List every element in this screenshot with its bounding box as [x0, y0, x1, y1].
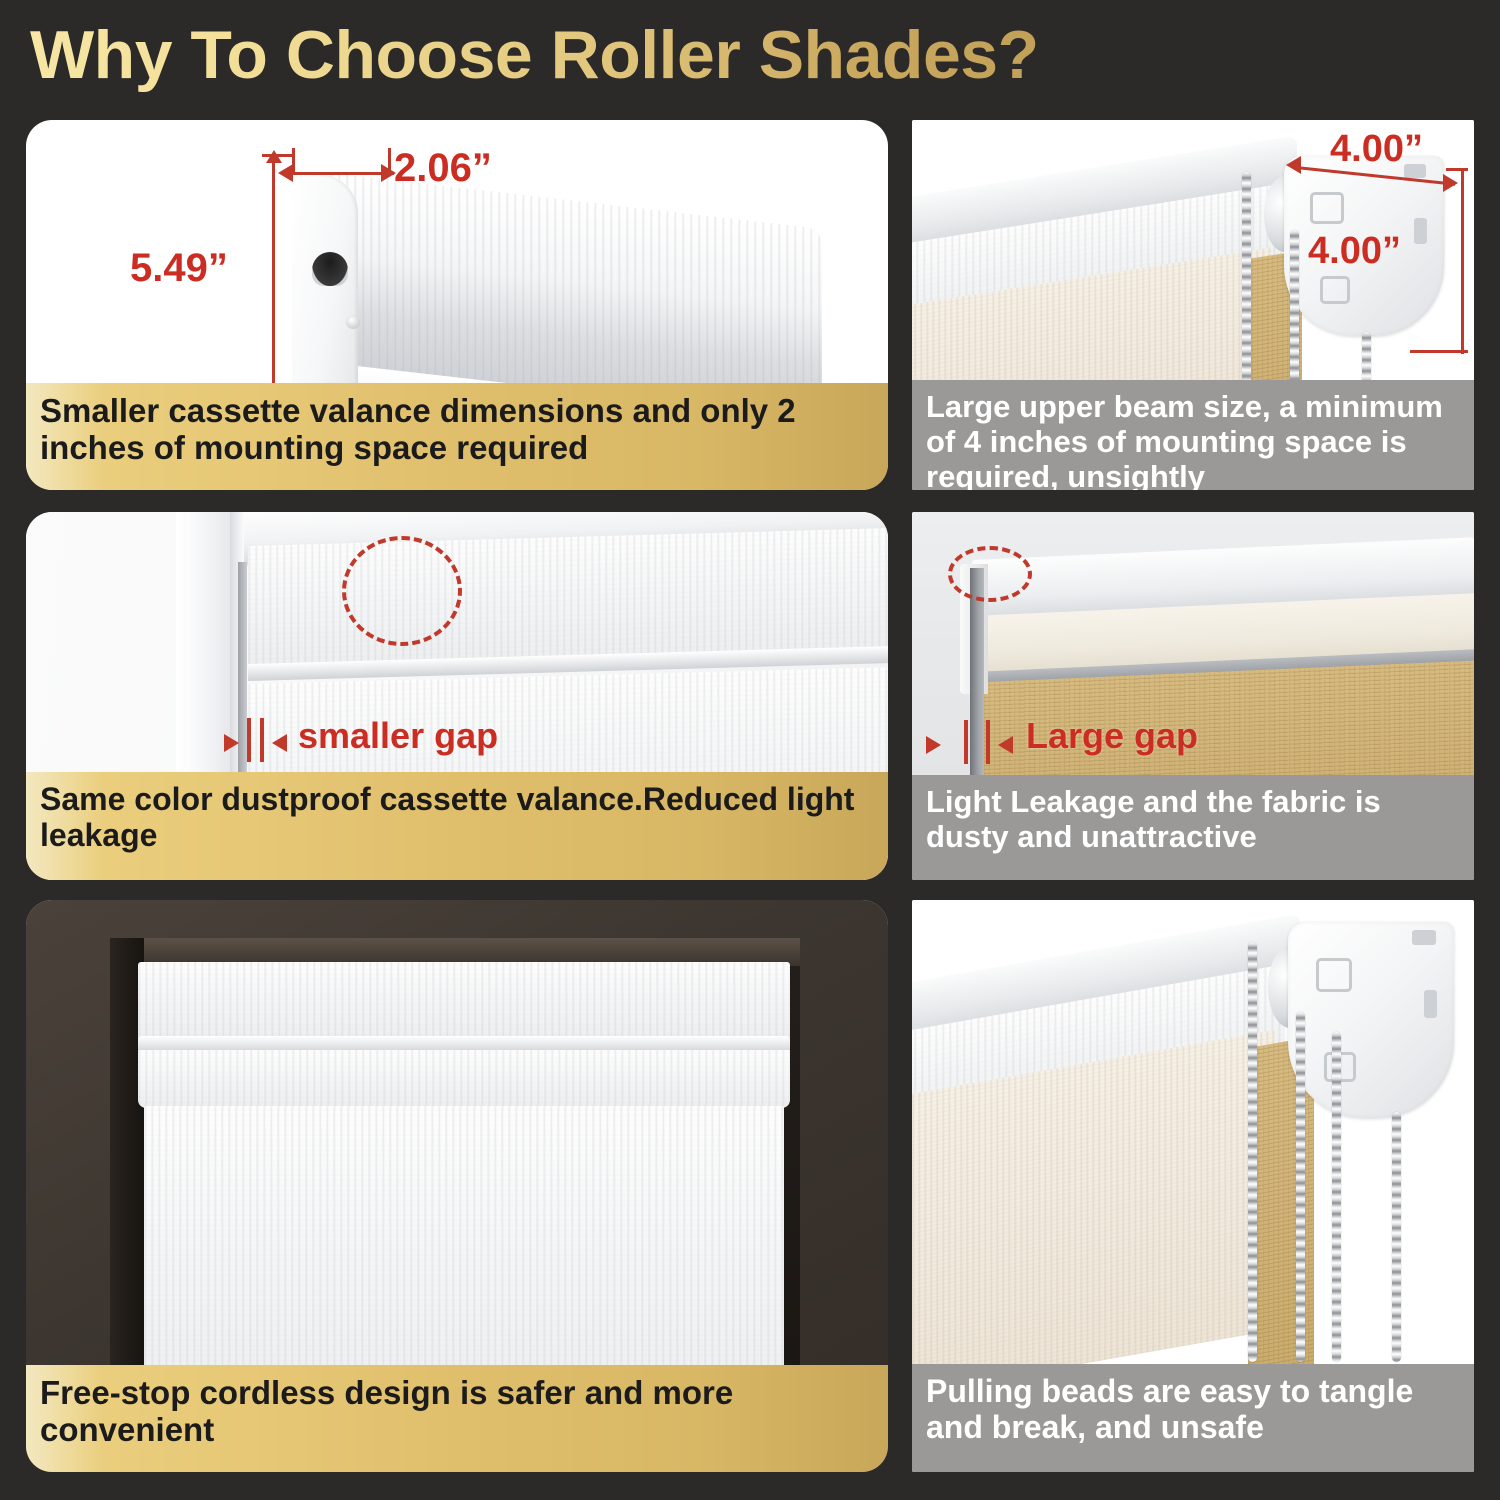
bracket-height-ext-top: [1446, 168, 1468, 171]
bracket-width-label: 4.00”: [1330, 130, 1423, 168]
gap-arrow-left: [926, 736, 941, 754]
mounting-bracket-shape: [1288, 922, 1454, 1118]
mechanism-slot-shape: [312, 252, 348, 286]
bracket-notch-side: [1424, 990, 1437, 1018]
gap-label: Large gap: [1026, 718, 1198, 754]
bracket-width-arrow-left: [1286, 156, 1301, 174]
bead-chain-4: [1392, 1112, 1401, 1362]
width-ext-line-left: [292, 148, 295, 174]
panel-3-caption: Same color dustproof cassette valance.Re…: [26, 772, 888, 880]
page-title: Why To Choose Roller Shades?: [30, 16, 1039, 94]
screw-shape: [346, 315, 360, 329]
width-dimension-label: 2.06”: [394, 148, 492, 188]
panel-dustproof-cassette: smaller gap Same color dustproof cassett…: [26, 512, 888, 880]
valance-upper-shape: [138, 962, 790, 1040]
gap-arrow-left: [224, 734, 239, 752]
panel-6-caption: Pulling beads are easy to tangle and bre…: [912, 1364, 1474, 1472]
highlight-dashed-circle: [342, 536, 462, 646]
cream-fabric-shape: [912, 1030, 1275, 1396]
panel-4-caption: Light Leakage and the fabric is dusty an…: [912, 775, 1474, 880]
gap-tick-left: [247, 718, 251, 762]
panel-smaller-cassette-valance: 2.06” 5.49” Smaller cassette valance dim…: [26, 120, 888, 490]
panel-light-leakage: Large gap Light Leakage and the fabric i…: [912, 512, 1474, 880]
panel-1-caption: Smaller cassette valance dimensions and …: [26, 383, 888, 490]
bead-chain-3: [1332, 1032, 1341, 1362]
bracket-height-dimension-line: [1461, 168, 1464, 354]
gap-tick-right: [260, 718, 264, 762]
bead-chain-2: [1296, 1012, 1305, 1362]
title-bar: Why To Choose Roller Shades?: [0, 0, 1500, 112]
bracket-notch-side: [1414, 218, 1427, 244]
gap-tick-right: [986, 720, 990, 764]
bracket-notch-top: [1412, 930, 1436, 945]
height-ext-line-top: [262, 154, 292, 157]
gap-label: smaller gap: [298, 718, 498, 754]
width-ext-line-right: [388, 148, 391, 174]
panel-pulling-beads: Pulling beads are easy to tangle and bre…: [912, 900, 1474, 1472]
valance-lower-shape: [138, 1050, 790, 1108]
bead-chain-1: [1248, 942, 1257, 1362]
bracket-logo-icon-lower: [1320, 276, 1350, 304]
bracket-logo-icon: [1316, 958, 1352, 992]
panel-cordless-design: Free-stop cordless design is safer and m…: [26, 900, 888, 1472]
height-dimension-label: 5.49”: [130, 248, 228, 288]
bracket-height-label: 4.00”: [1308, 232, 1401, 270]
width-dimension-line: [284, 172, 394, 175]
gap-arrow-right: [998, 736, 1013, 754]
gap-tick-left: [964, 720, 968, 764]
highlight-dashed-circle: [948, 546, 1032, 602]
panel-5-caption: Free-stop cordless design is safer and m…: [26, 1365, 888, 1472]
bracket-logo-icon: [1310, 192, 1344, 224]
panel-large-upper-beam: 4.00” 4.00” Large upper beam size, a min…: [912, 120, 1474, 490]
width-dimension-arrow-left: [278, 164, 293, 182]
bracket-width-arrow-right: [1443, 174, 1458, 192]
panel-2-caption: Large upper beam size, a minimum of 4 in…: [912, 380, 1474, 490]
gap-arrow-right: [272, 734, 287, 752]
bracket-height-ext-bottom: [1410, 350, 1468, 353]
